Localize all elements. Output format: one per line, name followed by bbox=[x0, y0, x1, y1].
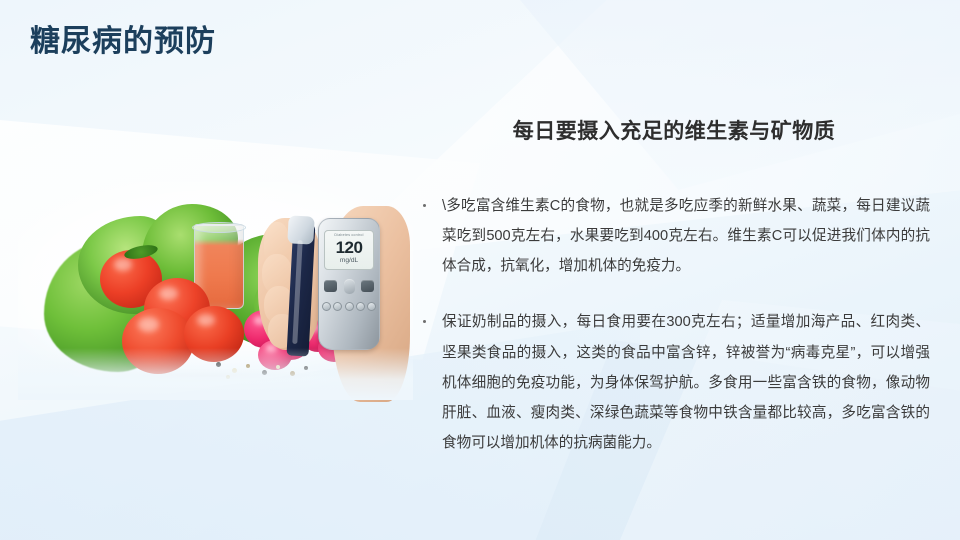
bullet-dot-icon bbox=[423, 204, 426, 207]
meter-icon-4 bbox=[356, 302, 365, 311]
peppercorn-2 bbox=[232, 368, 237, 373]
content-column: 每日要摄入充足的维生素与矿物质 \多吃富含维生素C的食物，也就是多吃应季的新鲜水… bbox=[418, 118, 930, 458]
meter-icon-3 bbox=[345, 302, 354, 311]
bullet-text: \多吃富含维生素C的食物，也就是多吃应季的新鲜水果、蔬菜，每日建议蔬菜吃到500… bbox=[442, 198, 930, 274]
peppercorn-8 bbox=[226, 375, 230, 379]
meter-icon-5 bbox=[367, 302, 376, 311]
meter-button-center bbox=[344, 279, 355, 294]
bullet-list: \多吃富含维生素C的食物，也就是多吃应季的新鲜水果、蔬菜，每日建议蔬菜吃到500… bbox=[418, 191, 930, 458]
peppercorn-7 bbox=[304, 366, 308, 370]
glucose-meter-icon-row bbox=[322, 300, 376, 313]
glucose-meter-value: 120 bbox=[325, 239, 373, 256]
peppercorn-5 bbox=[276, 365, 280, 369]
juice-glass-rim bbox=[192, 222, 246, 233]
glucose-meter-unit: mg/dL bbox=[325, 258, 373, 265]
page-title: 糖尿病的预防 bbox=[30, 24, 216, 60]
bullet-text: 保证奶制品的摄入，每日食用要在300克左右；适量增加海产品、红肉类、坚果类食品的… bbox=[442, 314, 930, 450]
bullet-dot-icon bbox=[423, 320, 426, 323]
peppercorn-6 bbox=[290, 371, 295, 376]
slide-root: 糖尿病的预防 bbox=[0, 0, 960, 540]
tomato-3 bbox=[122, 308, 194, 374]
list-item: \多吃富含维生素C的食物，也就是多吃应季的新鲜水果、蔬菜，每日建议蔬菜吃到500… bbox=[418, 191, 930, 281]
tomato-4 bbox=[184, 306, 244, 362]
list-item: 保证奶制品的摄入，每日食用要在300克左右；适量增加海产品、红肉类、坚果类食品的… bbox=[418, 307, 930, 457]
diabetes-food-photo: Diabetes control 120 mg/dL bbox=[18, 182, 413, 400]
meter-icon-1 bbox=[322, 302, 331, 311]
peppercorn-3 bbox=[246, 364, 250, 368]
peppercorn-1 bbox=[216, 362, 221, 367]
glucose-meter-label: Diabetes control bbox=[325, 234, 373, 238]
glucose-meter-buttons bbox=[324, 278, 374, 294]
meter-icon-2 bbox=[333, 302, 342, 311]
meter-button-left bbox=[324, 280, 337, 292]
section-subtitle: 每日要摄入充足的维生素与矿物质 bbox=[418, 118, 930, 145]
meter-button-right bbox=[361, 280, 374, 292]
peppercorn-4 bbox=[262, 370, 267, 375]
glucose-meter-screen: Diabetes control 120 mg/dL bbox=[324, 230, 374, 270]
